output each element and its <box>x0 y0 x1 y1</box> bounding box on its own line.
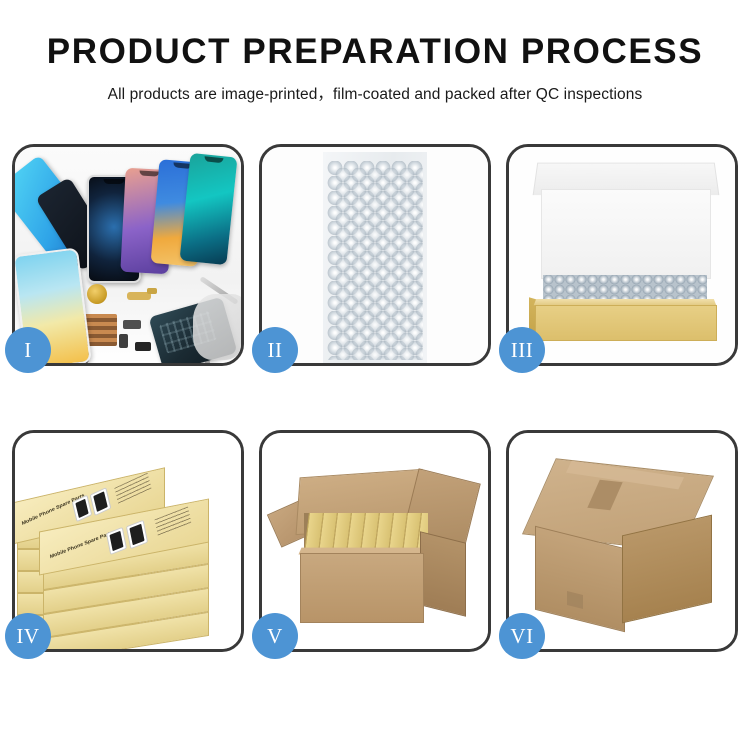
step-badge-4: IV <box>5 613 51 659</box>
carton-side-right <box>420 531 466 616</box>
step-panel-3: III <box>506 144 738 366</box>
hand <box>193 294 241 360</box>
step-panel-1: I <box>12 144 244 366</box>
mailer-box-interior <box>541 189 711 279</box>
bubble-grid-overlay <box>335 168 423 360</box>
step-badge-6: VI <box>499 613 545 659</box>
step-3-image <box>509 147 735 363</box>
flex-cable-connector-part <box>147 288 157 294</box>
carton-front <box>300 553 424 623</box>
step-panel-4: Mobile Phone Spare Parts Mobile Phone Sp… <box>12 430 244 652</box>
page-header: PRODUCT PREPARATION PROCESS All products… <box>0 0 750 104</box>
page-title: PRODUCT PREPARATION PROCESS <box>0 34 750 71</box>
retail-box-stack: Mobile Phone Spare Parts Mobile Phone Sp… <box>15 449 241 649</box>
step-badge-3: III <box>499 327 545 373</box>
step-2-image <box>262 147 488 363</box>
step-badge-2: II <box>252 327 298 373</box>
step-6-image <box>509 433 735 649</box>
step-panel-2: II <box>259 144 491 366</box>
connector-part-d <box>119 334 128 348</box>
step-badge-1: I <box>5 327 51 373</box>
bubble-wrap-sheet <box>323 152 427 363</box>
vibration-motor-part <box>87 284 107 304</box>
connector-part-c <box>123 320 141 329</box>
ic-chip-part <box>135 342 151 351</box>
step-panel-6: VI <box>506 430 738 652</box>
step-4-image: Mobile Phone Spare Parts Mobile Phone Sp… <box>15 433 241 649</box>
step-5-image <box>262 433 488 649</box>
process-steps-grid: I II III <box>12 144 738 652</box>
phone-teal-device <box>179 153 237 265</box>
step-panel-5: V <box>259 430 491 652</box>
mailer-box-front <box>535 305 717 341</box>
step-1-image <box>15 147 241 363</box>
page-subtitle: All products are image-printed，film-coat… <box>0 82 750 104</box>
step-badge-5: V <box>252 613 298 659</box>
